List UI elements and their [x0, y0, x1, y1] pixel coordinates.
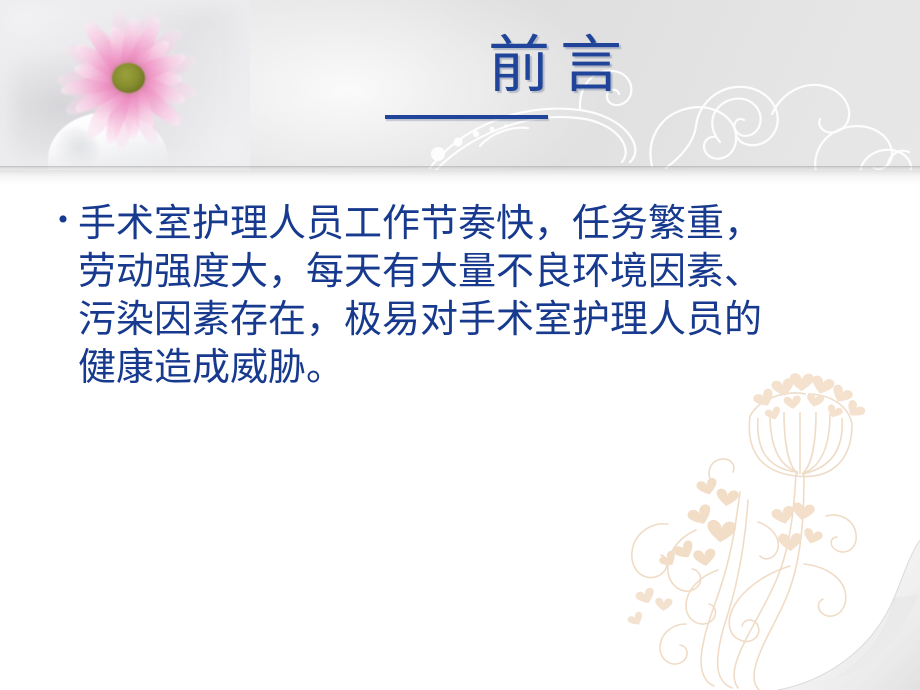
flower-center	[112, 63, 145, 93]
header-drop-shadow	[0, 170, 920, 186]
title-underline	[385, 115, 548, 119]
slide: 前言 • 手术室护理人员工作节奏快，任务繁重， 劳动强度大，每天有大量不良环境因…	[0, 0, 920, 690]
bullet-point-icon: •	[48, 200, 78, 220]
header-bottom-rule	[0, 166, 920, 170]
page-title: 前言	[250, 34, 870, 99]
body-paragraph: 手术室护理人员工作节奏快，任务繁重， 劳动强度大，每天有大量不良环境因素、 污染…	[78, 200, 888, 392]
flower-photo	[0, 0, 250, 170]
slide-body: • 手术室护理人员工作节奏快，任务繁重， 劳动强度大，每天有大量不良环境因素、 …	[0, 186, 920, 690]
bullet-list-item: • 手术室护理人员工作节奏快，任务繁重， 劳动强度大，每天有大量不良环境因素、 …	[48, 200, 888, 392]
flower-petals	[36, 8, 220, 148]
